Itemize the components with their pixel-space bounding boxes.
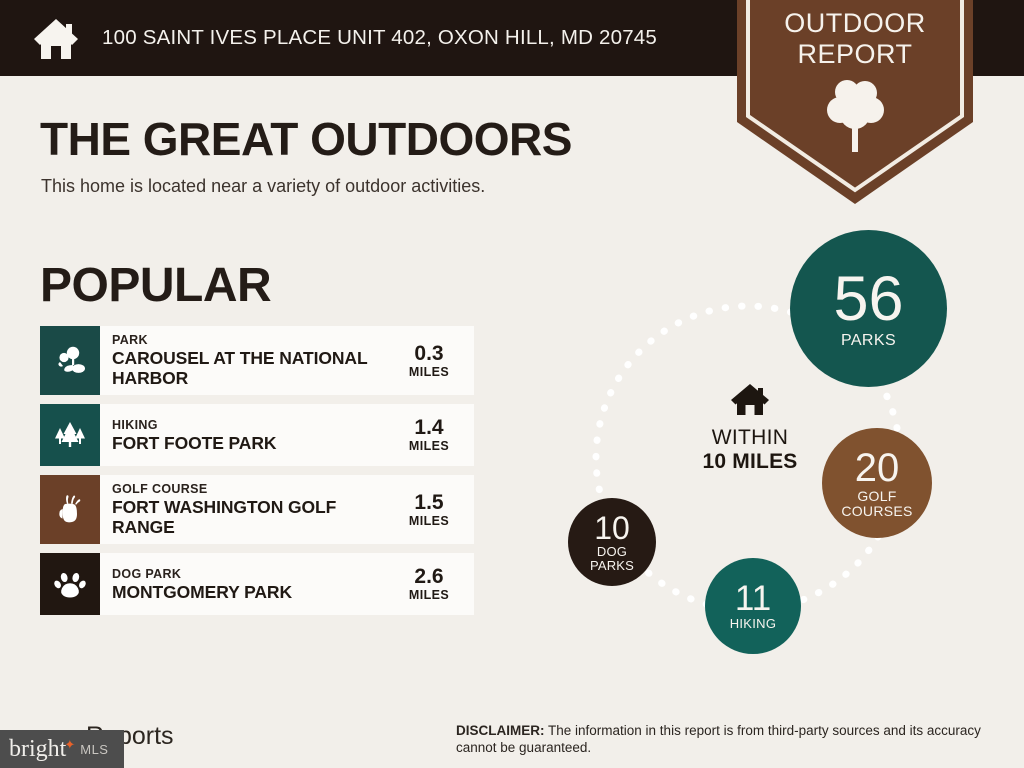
park-trees-icon [40, 326, 100, 395]
disclaimer-label: DISCLAIMER: [456, 723, 545, 738]
bubble-parks-value: 56 [833, 268, 903, 331]
list-item[interactable]: GOLF COURSE FORT WASHINGTON GOLF RANGE 1… [40, 475, 474, 544]
list-item-category: PARK [112, 333, 388, 348]
list-item-name: MONTGOMERY PARK [112, 582, 388, 602]
center-label-line1: WITHIN [670, 426, 830, 450]
list-item-text: HIKING FORT FOOTE PARK [100, 404, 392, 466]
home-icon [32, 14, 80, 62]
property-address: 100 SAINT IVES PLACE UNIT 402, OXON HILL… [102, 26, 657, 50]
list-item-text: DOG PARK MONTGOMERY PARK [100, 553, 392, 615]
bubble-hiking[interactable]: 11 HIKING [705, 558, 801, 654]
bubble-dog-value: 10 [594, 512, 630, 544]
pine-trees-icon [40, 404, 100, 466]
list-item-text: PARK CAROUSEL AT THE NATIONAL HARBOR [100, 326, 392, 395]
distance-value: 1.5 [414, 492, 443, 514]
list-item-name: FORT WASHINGTON GOLF RANGE [112, 497, 388, 537]
list-item-text: GOLF COURSE FORT WASHINGTON GOLF RANGE [100, 475, 392, 544]
within-10-miles-bubble-chart: 56 PARKS 20 GOLF COURSES 11 HIKING 10 DO… [500, 210, 1000, 680]
list-item-category: DOG PARK [112, 567, 388, 582]
outdoor-report-badge: OUTDOOR REPORT [735, 0, 975, 206]
bubble-parks-label: PARKS [841, 333, 896, 350]
bubble-parks[interactable]: 56 PARKS [790, 230, 947, 387]
distance-value: 0.3 [414, 343, 443, 365]
list-item-distance: 2.6 MILES [392, 553, 474, 615]
distance-value: 1.4 [414, 417, 443, 439]
page-subtitle: This home is located near a variety of o… [41, 176, 485, 197]
golf-bag-icon [40, 475, 100, 544]
distance-unit: MILES [409, 514, 449, 528]
brightmls-watermark: bright ✦ MLS [0, 730, 124, 768]
disclaimer: DISCLAIMER: The information in this repo… [456, 722, 1016, 756]
bubble-hiking-value: 11 [735, 581, 771, 616]
bubble-dog-label-line2: PARKS [590, 559, 634, 573]
bubble-dog-parks[interactable]: 10 DOG PARKS [568, 498, 656, 586]
distance-value: 2.6 [414, 566, 443, 588]
list-item-distance: 0.3 MILES [392, 326, 474, 395]
list-item-category: HIKING [112, 418, 388, 433]
watermark-bright-text: bright [9, 737, 66, 761]
star-icon: ✦ [64, 737, 75, 753]
page-title: THE GREAT OUTDOORS [40, 112, 572, 166]
list-item[interactable]: HIKING FORT FOOTE PARK 1.4 MILES [40, 404, 474, 466]
list-item[interactable]: PARK CAROUSEL AT THE NATIONAL HARBOR 0.3… [40, 326, 474, 395]
list-item-name: CAROUSEL AT THE NATIONAL HARBOR [112, 348, 388, 388]
popular-list: PARK CAROUSEL AT THE NATIONAL HARBOR 0.3… [40, 326, 474, 624]
chart-center-label: WITHIN 10 MILES [670, 382, 830, 474]
bubble-golf-courses[interactable]: 20 GOLF COURSES [822, 428, 932, 538]
bubble-golf-label-line1: GOLF [857, 489, 896, 504]
home-icon [670, 382, 830, 416]
popular-heading: POPULAR [40, 258, 271, 313]
list-item-distance: 1.4 MILES [392, 404, 474, 466]
center-label-line2: 10 MILES [670, 450, 830, 474]
distance-unit: MILES [409, 439, 449, 453]
bubble-golf-label-line2: COURSES [841, 504, 912, 519]
watermark-mls-text: MLS [80, 742, 108, 757]
bubble-golf-value: 20 [855, 448, 900, 488]
list-item-name: FORT FOOTE PARK [112, 433, 388, 453]
list-item-distance: 1.5 MILES [392, 475, 474, 544]
bubble-dog-label-line1: DOG [597, 545, 627, 559]
paw-print-icon [40, 553, 100, 615]
bubble-hiking-label: HIKING [730, 617, 777, 631]
distance-unit: MILES [409, 588, 449, 602]
list-item[interactable]: DOG PARK MONTGOMERY PARK 2.6 MILES [40, 553, 474, 615]
distance-unit: MILES [409, 365, 449, 379]
list-item-category: GOLF COURSE [112, 482, 388, 497]
